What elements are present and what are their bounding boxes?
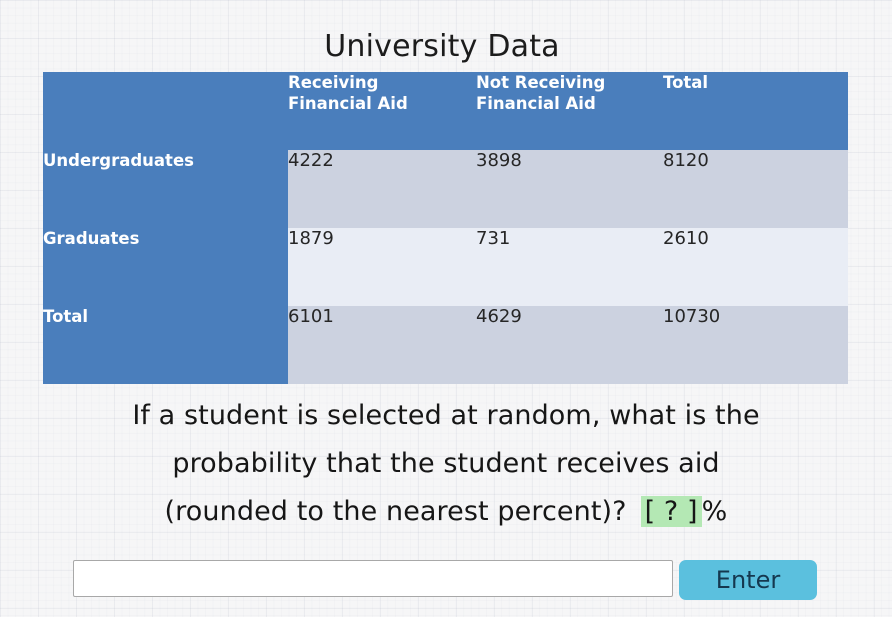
- percent-sign: %: [702, 496, 728, 527]
- header-total: Total: [663, 72, 848, 150]
- cell-undergraduates-receiving: 4222: [288, 150, 476, 228]
- slide-background: University Data Receiving Financial Aid …: [0, 0, 892, 617]
- page-title-text: University Data: [324, 28, 560, 66]
- question-line-3: (rounded to the nearest percent)?[ ? ]%: [0, 488, 892, 536]
- header-receiving-financial-aid: Receiving Financial Aid: [288, 72, 476, 150]
- university-data-table: Receiving Financial Aid Not Receiving Fi…: [43, 72, 848, 384]
- table-header: Receiving Financial Aid Not Receiving Fi…: [43, 72, 848, 150]
- table-header-row: Receiving Financial Aid Not Receiving Fi…: [43, 72, 848, 150]
- question-line-2: probability that the student receives ai…: [0, 440, 892, 488]
- cell-undergraduates-total: 8120: [663, 150, 848, 228]
- header-not-receiving-line2: Financial Aid: [476, 94, 596, 113]
- header-not-receiving-financial-aid: Not Receiving Financial Aid: [476, 72, 663, 150]
- row-label-total: Total: [43, 306, 288, 384]
- cell-total-total: 10730: [663, 306, 848, 384]
- table-row: Undergraduates 4222 3898 8120: [43, 150, 848, 228]
- header-not-receiving-line1: Not Receiving: [476, 73, 605, 92]
- question-prompt: If a student is selected at random, what…: [0, 392, 892, 536]
- table-body: Undergraduates 4222 3898 8120 Graduates …: [43, 150, 848, 384]
- question-line-1: If a student is selected at random, what…: [0, 392, 892, 440]
- header-corner-blank: [43, 72, 288, 150]
- cell-total-receiving: 6101: [288, 306, 476, 384]
- header-receiving-line2: Financial Aid: [288, 94, 408, 113]
- enter-button[interactable]: Enter: [679, 560, 817, 600]
- answer-input[interactable]: [73, 560, 673, 597]
- cell-graduates-not-receiving: 731: [476, 228, 663, 306]
- cell-total-not-receiving: 4629: [476, 306, 663, 384]
- answer-placeholder-slot: [ ? ]: [641, 496, 702, 527]
- row-label-undergraduates: Undergraduates: [43, 150, 288, 228]
- header-receiving-line1: Receiving: [288, 73, 379, 92]
- question-line-3-text: (rounded to the nearest percent)?: [165, 496, 627, 527]
- table-row: Graduates 1879 731 2610: [43, 228, 848, 306]
- page-title: University Data: [0, 28, 892, 66]
- cell-graduates-receiving: 1879: [288, 228, 476, 306]
- cell-undergraduates-not-receiving: 3898: [476, 150, 663, 228]
- table-row: Total 6101 4629 10730: [43, 306, 848, 384]
- row-label-graduates: Graduates: [43, 228, 288, 306]
- cell-graduates-total: 2610: [663, 228, 848, 306]
